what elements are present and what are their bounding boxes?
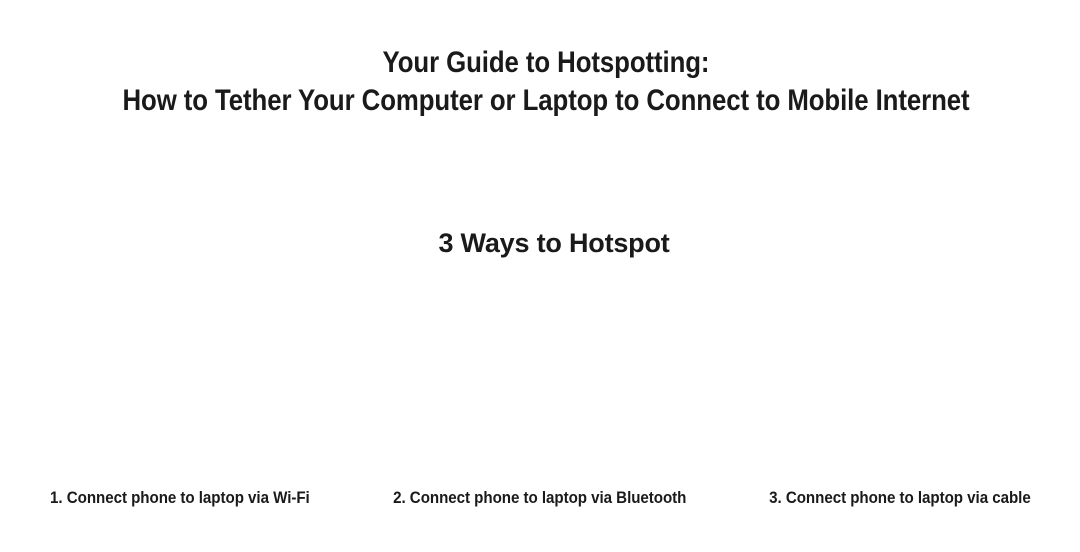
page-title: Your Guide to Hotspotting: How to Tether… bbox=[0, 44, 1080, 120]
step-caption-2: 2. Connect phone to laptop via Bluetooth bbox=[393, 487, 686, 509]
step-figure-1 bbox=[0, 285, 360, 480]
step-caption-cell-1: 1. Connect phone to laptop via Wi-Fi bbox=[0, 487, 360, 509]
infographic-page: Your Guide to Hotspotting: How to Tether… bbox=[0, 0, 1080, 552]
page-title-line-1: Your Guide to Hotspotting: bbox=[87, 44, 1005, 82]
steps-caption-row: 1. Connect phone to laptop via Wi-Fi 2. … bbox=[0, 487, 1080, 513]
phone-to-laptop-cable-illustration bbox=[720, 285, 1080, 480]
page-title-line-2: How to Tether Your Computer or Laptop to… bbox=[87, 82, 1005, 120]
step-caption-3: 3. Connect phone to laptop via cable bbox=[769, 487, 1031, 509]
step-caption-cell-2: 2. Connect phone to laptop via Bluetooth bbox=[360, 487, 720, 509]
step-figure-3 bbox=[720, 285, 1080, 480]
steps-illustration-row bbox=[0, 285, 1080, 480]
step-figure-2 bbox=[360, 285, 720, 480]
step-caption-1: 1. Connect phone to laptop via Wi-Fi bbox=[50, 487, 310, 509]
phone-to-laptop-wifi-illustration bbox=[0, 285, 360, 480]
step-caption-cell-3: 3. Connect phone to laptop via cable bbox=[720, 487, 1080, 509]
phone-to-laptop-bluetooth-illustration bbox=[360, 285, 720, 480]
section-heading: 3 Ways to Hotspot bbox=[0, 225, 1080, 261]
